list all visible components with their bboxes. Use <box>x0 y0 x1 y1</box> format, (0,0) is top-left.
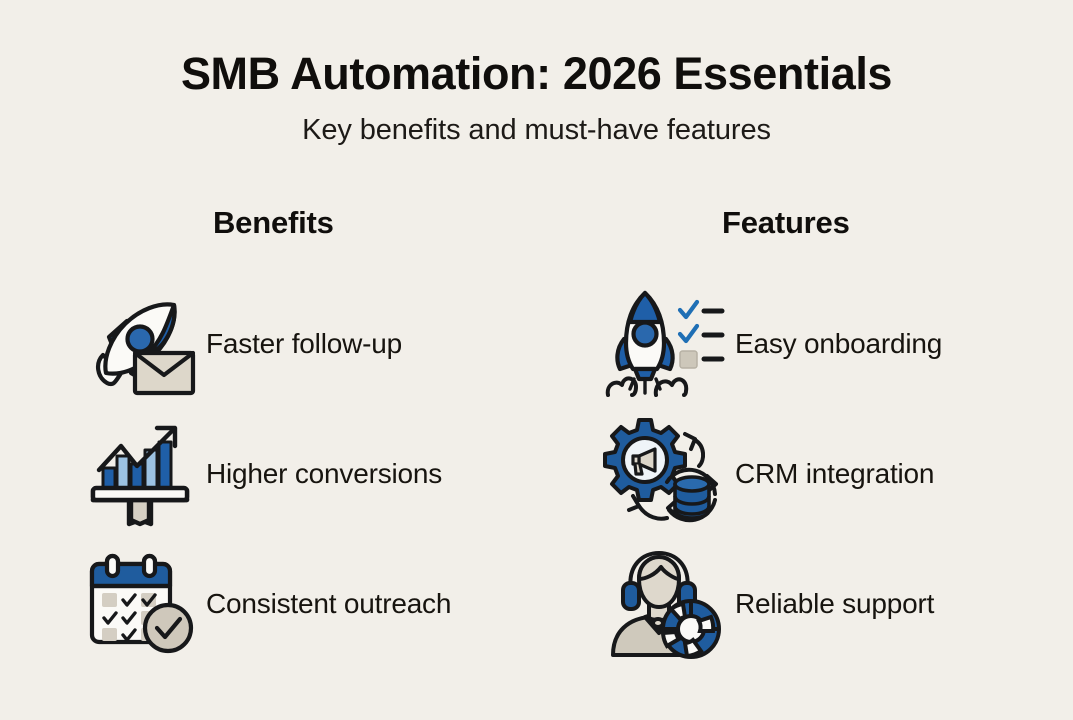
column-features: Features <box>536 205 1072 669</box>
infographic-slide: SMB Automation: 2026 Essentials Key bene… <box>0 0 1073 720</box>
gear-megaphone-database-sync-icon <box>601 418 725 530</box>
list-item-label: Easy onboarding <box>735 328 942 360</box>
list-item: CRM integration <box>536 409 1072 539</box>
list-item: Higher conversions <box>0 409 536 539</box>
list-item: Reliable support <box>536 539 1072 669</box>
column-heading-benefits: Benefits <box>213 205 334 241</box>
page-title: SMB Automation: 2026 Essentials <box>0 48 1073 100</box>
columns-container: Benefits <box>0 205 1073 669</box>
list-item: Consistent outreach <box>0 539 536 669</box>
support-agent-lifering-icon <box>601 548 725 660</box>
rocket-envelope-icon <box>78 288 202 400</box>
rocket-checklist-icon <box>601 288 725 400</box>
list-item-label: Reliable support <box>735 588 934 620</box>
list-item-label: Consistent outreach <box>206 588 451 620</box>
column-benefits: Benefits <box>0 205 536 669</box>
slide-header: SMB Automation: 2026 Essentials Key bene… <box>0 0 1073 147</box>
page-subtitle: Key benefits and must-have features <box>0 114 1073 147</box>
column-heading-features: Features <box>722 205 850 241</box>
calendar-check-icon <box>78 548 202 660</box>
features-list: Easy onboarding <box>536 279 1072 669</box>
list-item-label: Higher conversions <box>206 458 442 490</box>
funnel-growth-chart-icon <box>78 418 202 530</box>
list-item-label: CRM integration <box>735 458 934 490</box>
list-item-label: Faster follow-up <box>206 328 402 360</box>
benefits-list: Faster follow-up <box>0 279 536 669</box>
list-item: Easy onboarding <box>536 279 1072 409</box>
list-item: Faster follow-up <box>0 279 536 409</box>
